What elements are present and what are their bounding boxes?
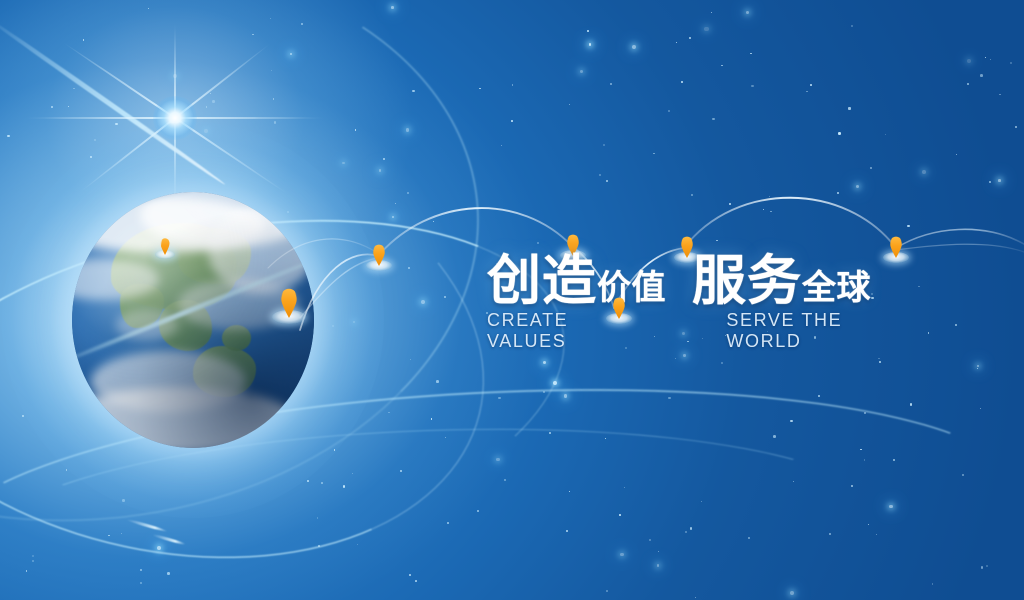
star-particle xyxy=(587,30,589,32)
star-particle xyxy=(790,591,794,595)
star-particle xyxy=(400,470,402,472)
star-particle xyxy=(395,203,396,204)
star-particle xyxy=(477,510,479,512)
star-particle xyxy=(793,481,794,482)
star-particle xyxy=(878,358,879,359)
star-particle xyxy=(619,514,621,516)
star-particle xyxy=(689,37,691,39)
star-particle xyxy=(496,458,499,461)
star-particle xyxy=(721,65,722,66)
star-particle xyxy=(274,121,276,123)
star-particle xyxy=(999,94,1001,96)
star-particle xyxy=(51,106,53,108)
star-particle xyxy=(379,169,382,172)
star-particle xyxy=(681,81,683,83)
star-particle xyxy=(444,296,447,299)
star-particle xyxy=(569,491,570,492)
star-particle xyxy=(7,135,10,138)
banner-canvas: 创造价值服务全球 CREATE VALUES SERVE THE WORLD xyxy=(0,0,1024,600)
star-particle xyxy=(445,437,446,438)
star-particle xyxy=(553,381,557,385)
star-particle xyxy=(668,110,670,112)
star-particle xyxy=(83,39,85,41)
star-particle xyxy=(409,574,411,576)
comet-streak xyxy=(126,518,167,532)
star-particle xyxy=(977,368,978,369)
star-particle xyxy=(885,134,886,135)
star-particle xyxy=(620,553,623,556)
star-particle xyxy=(893,459,895,461)
star-particle xyxy=(606,590,608,592)
comet-streak xyxy=(152,533,185,545)
star-particle xyxy=(73,88,75,90)
star-particle xyxy=(810,84,812,86)
star-particle xyxy=(140,569,142,571)
star-particle xyxy=(870,167,872,169)
star-particle xyxy=(668,397,670,399)
star-particle xyxy=(415,580,417,582)
headline-primary-1: 创造 xyxy=(487,252,597,310)
map-pin[interactable] xyxy=(272,278,306,324)
star-particle xyxy=(410,359,411,360)
map-pin[interactable] xyxy=(155,232,175,259)
star-particle xyxy=(271,70,272,71)
star-particle xyxy=(343,485,346,488)
star-particle xyxy=(773,435,776,438)
star-particle xyxy=(566,530,568,532)
star-particle xyxy=(928,332,930,334)
star-particle xyxy=(606,180,608,182)
headline: 创造价值服务全球 xyxy=(487,252,917,317)
star-particle xyxy=(701,501,703,503)
star-particle xyxy=(352,473,353,474)
route-arc xyxy=(684,198,896,248)
star-particle xyxy=(864,412,866,414)
star-particle xyxy=(729,203,731,205)
star-particle xyxy=(115,123,117,125)
star-particle xyxy=(406,128,410,132)
star-particle xyxy=(173,74,177,78)
star-particle xyxy=(860,449,861,450)
star-particle xyxy=(721,362,724,365)
subtitle-row: CREATE VALUES SERVE THE WORLD xyxy=(487,310,917,352)
star-particle xyxy=(564,394,568,398)
star-particle xyxy=(543,361,546,364)
star-particle xyxy=(967,59,971,63)
star-particle xyxy=(412,90,414,92)
star-particle xyxy=(806,91,807,92)
star-particle xyxy=(910,403,912,405)
star-particle xyxy=(580,70,583,73)
star-particle xyxy=(436,380,439,383)
star-particle xyxy=(658,551,659,552)
star-particle xyxy=(479,88,481,90)
star-particle xyxy=(357,544,358,545)
star-particle xyxy=(252,34,253,35)
star-particle xyxy=(962,474,964,476)
star-particle xyxy=(355,129,357,131)
star-particle xyxy=(856,185,859,188)
star-particle xyxy=(748,537,750,539)
star-particle xyxy=(989,181,991,183)
star-particle xyxy=(383,158,385,160)
star-particle xyxy=(750,53,752,55)
star-particle xyxy=(148,8,149,9)
star-particle xyxy=(321,482,323,484)
star-particle xyxy=(691,194,693,196)
star-particle xyxy=(603,144,605,146)
star-particle xyxy=(649,539,651,541)
star-particle xyxy=(301,23,303,25)
star-particle xyxy=(167,572,170,575)
star-particle xyxy=(108,535,110,537)
route-arc xyxy=(378,208,572,256)
star-particle xyxy=(967,83,969,85)
star-particle xyxy=(307,480,309,482)
star-particle xyxy=(716,240,717,241)
star-particle xyxy=(985,57,986,58)
star-particle xyxy=(751,85,753,87)
star-particle xyxy=(68,106,69,107)
star-particle xyxy=(907,225,910,228)
star-particle xyxy=(605,438,606,439)
star-particle xyxy=(549,432,552,435)
star-particle xyxy=(956,154,957,155)
star-particle xyxy=(632,45,636,49)
star-particle xyxy=(408,267,410,269)
star-particle xyxy=(157,546,161,550)
star-particle xyxy=(990,59,991,60)
star-particle xyxy=(695,597,696,598)
star-particle xyxy=(431,418,433,420)
star-particle xyxy=(918,286,920,288)
star-particle xyxy=(851,25,853,27)
star-particle xyxy=(317,517,319,519)
headline-line: 创造价值服务全球 xyxy=(487,252,917,317)
star-particle xyxy=(711,12,712,13)
star-particle xyxy=(676,42,677,43)
star-particle xyxy=(998,179,1001,182)
star-particle xyxy=(653,153,655,155)
star-particle xyxy=(932,583,933,584)
star-particle xyxy=(685,531,687,533)
route-arc xyxy=(896,244,1024,252)
star-particle xyxy=(1010,62,1012,64)
star-particle xyxy=(32,555,34,557)
star-particle xyxy=(864,459,866,461)
star-particle xyxy=(22,415,24,417)
star-particle xyxy=(501,145,502,146)
star-particle xyxy=(26,570,28,572)
star-particle xyxy=(318,545,320,547)
star-particle xyxy=(818,395,820,397)
route-arc xyxy=(896,229,1024,248)
star-particle xyxy=(746,11,750,15)
star-particle xyxy=(206,106,208,108)
star-particle xyxy=(790,420,793,423)
star-particle xyxy=(879,361,881,363)
star-particle xyxy=(498,397,501,400)
star-particle xyxy=(977,365,979,367)
headline-primary-2: 服务 xyxy=(692,252,802,310)
star-particle xyxy=(922,170,926,174)
star-particle xyxy=(704,27,708,31)
star-particle xyxy=(889,505,893,509)
star-particle xyxy=(569,104,570,105)
star-particle xyxy=(675,358,676,359)
star-particle xyxy=(955,324,957,326)
star-particle xyxy=(848,107,850,109)
star-particle xyxy=(512,84,514,86)
star-particle xyxy=(712,118,715,121)
star-particle xyxy=(140,582,142,584)
headline-secondary-2: 全球 xyxy=(802,259,871,317)
star-particle xyxy=(121,533,122,534)
star-particle xyxy=(94,139,96,141)
star-particle xyxy=(1015,126,1017,128)
star-particle xyxy=(876,534,877,535)
star-particle xyxy=(270,18,271,19)
star-particle xyxy=(421,300,425,304)
subtitle-serve-the-world: SERVE THE WORLD xyxy=(726,310,917,352)
star-particle xyxy=(610,83,612,85)
star-particle xyxy=(392,216,394,218)
star-particle xyxy=(407,192,408,193)
star-particle xyxy=(273,98,275,100)
star-particle xyxy=(32,560,34,562)
star-particle xyxy=(683,354,686,357)
star-particle xyxy=(290,53,292,55)
star-particle xyxy=(342,162,344,164)
star-particle xyxy=(447,522,449,524)
star-particle xyxy=(504,479,506,481)
star-particle xyxy=(980,408,981,409)
star-particle xyxy=(868,524,869,525)
star-particle xyxy=(657,564,660,567)
star-particle xyxy=(212,100,215,103)
star-particle xyxy=(763,209,764,210)
star-particle xyxy=(838,132,840,134)
star-particle xyxy=(981,566,983,568)
star-particle xyxy=(543,391,545,393)
star-particle xyxy=(391,6,394,9)
star-particle xyxy=(980,74,983,77)
star-particle xyxy=(599,174,601,176)
star-particle xyxy=(769,196,770,197)
map-pin[interactable] xyxy=(366,237,392,271)
star-particle xyxy=(511,120,513,122)
star-particle xyxy=(624,487,626,489)
star-particle xyxy=(537,242,539,244)
star-particle xyxy=(210,93,211,94)
star-particle xyxy=(433,221,434,222)
star-particle xyxy=(690,527,693,530)
star-particle xyxy=(589,43,592,46)
star-particle xyxy=(770,211,772,213)
star-particle xyxy=(837,192,839,194)
subtitle-create-values: CREATE VALUES xyxy=(487,310,648,352)
star-particle xyxy=(388,412,390,414)
star-particle xyxy=(986,565,988,567)
flare-ray-horizontal xyxy=(25,117,325,120)
star-particle xyxy=(851,485,853,487)
star-particle xyxy=(829,533,831,535)
